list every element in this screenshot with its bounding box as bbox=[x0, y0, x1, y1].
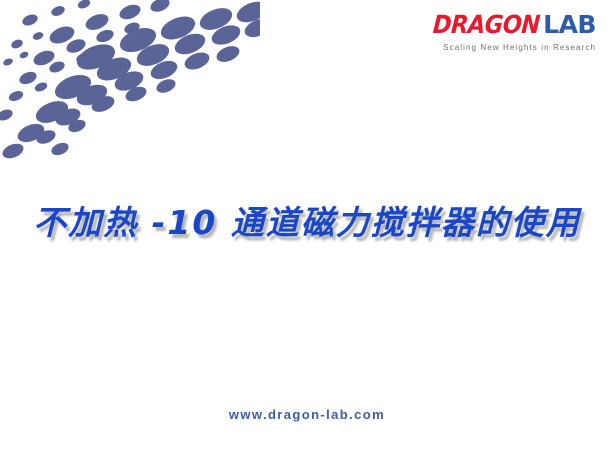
footer-container: www.dragon-lab.com bbox=[0, 406, 614, 424]
website-url[interactable]: www.dragon-lab.com bbox=[229, 407, 385, 422]
brand-logo: DRAGONLAB Scaling New Heights in Researc… bbox=[433, 12, 596, 52]
brand-tagline: Scaling New Heights in Research bbox=[433, 44, 596, 52]
halftone-swoosh-decoration bbox=[0, 0, 260, 160]
brand-wordmark: DRAGONLAB bbox=[433, 12, 596, 37]
presentation-slide: DRAGONLAB Scaling New Heights in Researc… bbox=[0, 0, 614, 464]
title-container: 不加热 -10 通道磁力搅拌器的使用 bbox=[0, 196, 614, 244]
brand-name-lab: LAB bbox=[543, 12, 596, 37]
brand-name-dragon: DRAGON bbox=[432, 12, 541, 37]
slide-title: 不加热 -10 通道磁力搅拌器的使用 bbox=[33, 196, 581, 244]
